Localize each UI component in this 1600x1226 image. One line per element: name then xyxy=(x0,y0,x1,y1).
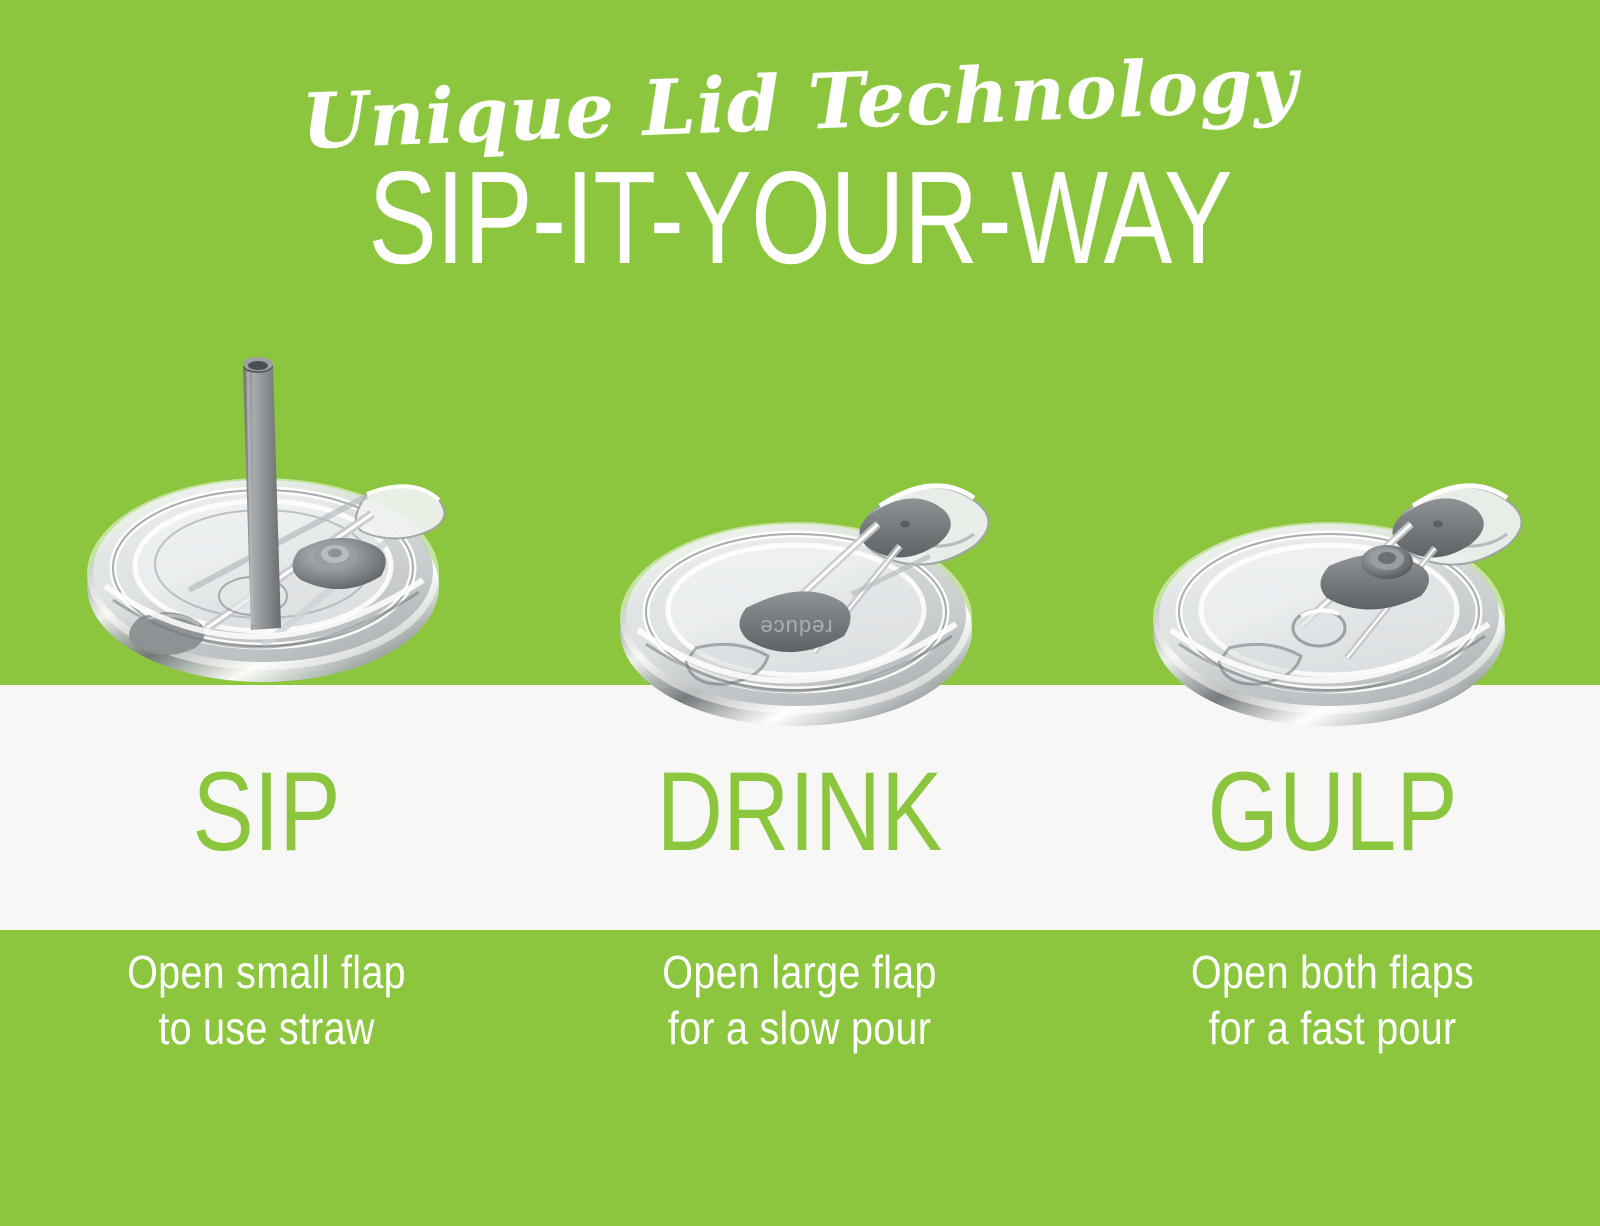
lid-image-sip xyxy=(0,390,533,720)
lid-image-gulp xyxy=(1066,420,1599,750)
mode-caption-sip: Open small flap to use straw xyxy=(37,944,495,1056)
lid-image-drink: reduce xyxy=(533,420,1066,750)
mode-caption-drink: Open large flap for a slow pour xyxy=(570,944,1028,1056)
mode-label-sip: SIP xyxy=(48,756,485,868)
mode-column-drink: reduce DRINK Open large flap for a slow … xyxy=(533,0,1066,1226)
caption-line-2: to use straw xyxy=(37,1000,495,1056)
mode-label-gulp: GULP xyxy=(1114,756,1551,868)
caption-line-2: for a slow pour xyxy=(570,1000,1028,1056)
caption-line-2: for a fast pour xyxy=(1103,1000,1561,1056)
caption-line-1: Open both flaps xyxy=(1191,946,1474,998)
mode-label-drink: DRINK xyxy=(581,756,1018,868)
caption-line-1: Open large flap xyxy=(662,946,936,998)
poster-canvas: Unique Lid Technology SIP-IT-YOUR-WAY xyxy=(0,0,1600,1226)
mode-column-sip: SIP Open small flap to use straw xyxy=(0,0,533,1226)
caption-line-1: Open small flap xyxy=(127,946,406,998)
modes-row: SIP Open small flap to use straw xyxy=(0,0,1600,1226)
brand-logo-text: reduce xyxy=(759,615,832,640)
mode-caption-gulp: Open both flaps for a fast pour xyxy=(1103,944,1561,1056)
mode-column-gulp: GULP Open both flaps for a fast pour xyxy=(1066,0,1599,1226)
